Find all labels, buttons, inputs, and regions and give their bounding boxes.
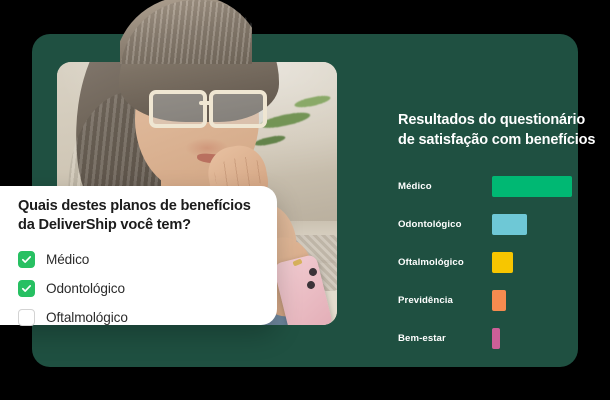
option-label-odontologico: Odontológico: [46, 281, 125, 296]
lens-right: [209, 90, 267, 128]
option-medico[interactable]: Médico: [18, 245, 258, 274]
bar-label-previdencia: Previdência: [398, 295, 492, 306]
option-label-oftalmologico: Oftalmológico: [46, 310, 128, 325]
chart-bar-row: Oftalmológico: [398, 252, 598, 273]
chart-title-line-2: de satisfação com benefícios: [398, 132, 595, 148]
bar-fill-previdencia: [492, 290, 506, 311]
benefits-satisfaction-chart: Resultados do questionário de satisfação…: [398, 110, 598, 366]
question-options: Médico Odontológico Oftalmológico: [18, 245, 258, 332]
bar-track: [492, 214, 598, 235]
option-oftalmologico[interactable]: Oftalmológico: [18, 303, 258, 332]
bar-track: [492, 252, 598, 273]
bar-track: [492, 290, 598, 311]
chart-title: Resultados do questionário de satisfação…: [398, 110, 598, 150]
chart-bars: Médico Odontológico Oftalmológico: [398, 176, 598, 349]
bar-fill-odontologico: [492, 214, 527, 235]
checkbox-checked-icon[interactable]: [18, 280, 35, 297]
chart-bar-row: Bem-estar: [398, 328, 598, 349]
option-odontologico[interactable]: Odontológico: [18, 274, 258, 303]
screenshot-canvas: Resultados do questionário de satisfação…: [0, 0, 610, 400]
bar-label-medico: Médico: [398, 181, 492, 192]
bar-fill-medico: [492, 176, 572, 197]
bar-fill-oftalmologico: [492, 252, 513, 273]
checkbox-unchecked-icon[interactable]: [18, 309, 35, 326]
chart-bar-row: Médico: [398, 176, 598, 197]
question-title: Quais destes planos de benefícios da Del…: [18, 197, 258, 235]
chart-bar-row: Previdência: [398, 290, 598, 311]
bar-track: [492, 328, 598, 349]
lens-left: [149, 90, 207, 128]
hair-overflow-texture: [120, 0, 252, 64]
checkbox-checked-icon[interactable]: [18, 251, 35, 268]
chart-title-line-1: Resultados do questionário: [398, 112, 585, 128]
hair-overflow: [120, 0, 252, 64]
bar-label-odontologico: Odontológico: [398, 219, 492, 230]
bar-label-oftalmologico: Oftalmológico: [398, 257, 492, 268]
option-label-medico: Médico: [46, 252, 89, 267]
eyeglasses: [149, 90, 271, 120]
survey-question-card: Quais destes planos de benefícios da Del…: [0, 186, 277, 325]
bar-label-bem-estar: Bem-estar: [398, 333, 492, 344]
bar-fill-bem-estar: [492, 328, 500, 349]
chart-bar-row: Odontológico: [398, 214, 598, 235]
bar-track: [492, 176, 598, 197]
